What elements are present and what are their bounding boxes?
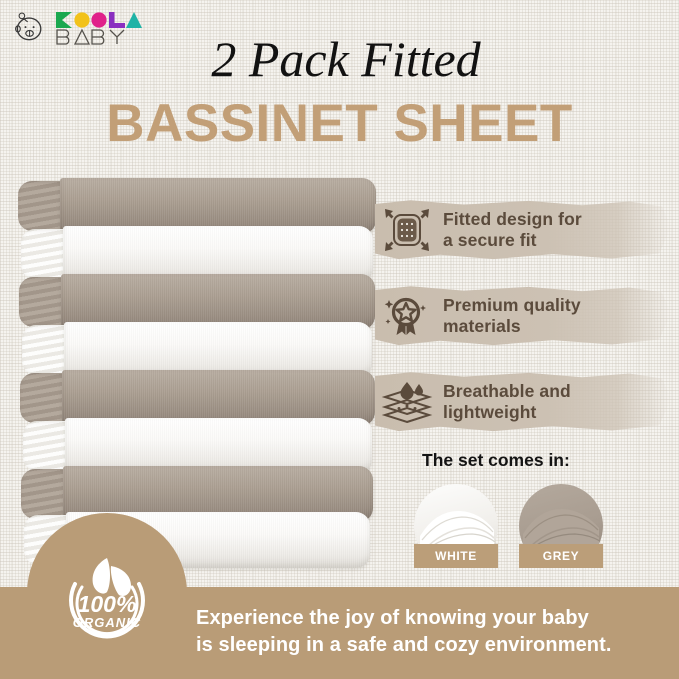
- swatch-label: GREY: [543, 549, 579, 563]
- color-options-heading: The set comes in:: [422, 450, 570, 471]
- logo-letter-k: [56, 12, 72, 28]
- logo-letter-y: [109, 29, 125, 45]
- folded-sheet-stack: [18, 178, 393, 548]
- feature-line-2: lightweight: [443, 402, 571, 423]
- banner-message-line-2: is sleeping in a safe and cozy environme…: [196, 632, 665, 659]
- swatch-label-band: GREY: [519, 544, 603, 568]
- logo-letter-a: [126, 12, 142, 28]
- feature-line-1: Premium quality: [443, 295, 581, 316]
- swatch-label: WHITE: [435, 549, 477, 563]
- feature-breathable-lightweight: Breathable and lightweight: [375, 371, 671, 433]
- brand-name-koola: [56, 12, 142, 28]
- page-title: BASSINET SHEET: [0, 93, 679, 154]
- feature-text: Fitted design for a secure fit: [443, 209, 582, 250]
- feature-line-2: a secure fit: [443, 230, 582, 251]
- logo-letter-o2: [91, 12, 107, 28]
- organic-word: ORGANIC: [73, 615, 141, 630]
- feature-text: Breathable and lightweight: [443, 381, 571, 422]
- logo-letter-l: [109, 12, 125, 28]
- logo-letter-a2: [74, 29, 90, 45]
- swatch-label-band: WHITE: [414, 544, 498, 568]
- organic-percent: 100%: [78, 591, 137, 617]
- brand-name-baby: [56, 29, 142, 45]
- feature-premium-quality: Premium quality materials: [375, 285, 671, 347]
- color-swatch-white[interactable]: WHITE: [414, 484, 498, 568]
- star-badge-icon: [381, 292, 433, 340]
- script-headline-text: 2 Pack Fitted: [211, 31, 481, 87]
- logo-letter-b2: [91, 29, 107, 45]
- brand-wordmark: [56, 12, 142, 45]
- color-swatch-grey[interactable]: GREY: [519, 484, 603, 568]
- breathable-layers-icon: [381, 378, 433, 426]
- logo-letter-b1: [56, 29, 72, 45]
- script-headline: 2 Pack Fitted: [186, 28, 506, 90]
- feature-fitted-design: Fitted design for a secure fit: [375, 199, 671, 261]
- feature-line-1: Fitted design for: [443, 209, 582, 230]
- organic-leaf-badge-icon: 100% ORGANIC: [47, 540, 167, 660]
- banner-message-line-1: Experience the joy of knowing your baby: [196, 605, 665, 632]
- feature-line-1: Breathable and: [443, 381, 571, 402]
- feature-line-2: materials: [443, 316, 581, 337]
- feature-text: Premium quality materials: [443, 295, 581, 336]
- brand-logo: [12, 10, 142, 46]
- logo-letter-o1: [74, 12, 90, 28]
- fitted-sheet-corners-icon: [381, 206, 433, 254]
- baby-face-icon: [12, 10, 48, 46]
- banner-message: Experience the joy of knowing your baby …: [196, 605, 665, 659]
